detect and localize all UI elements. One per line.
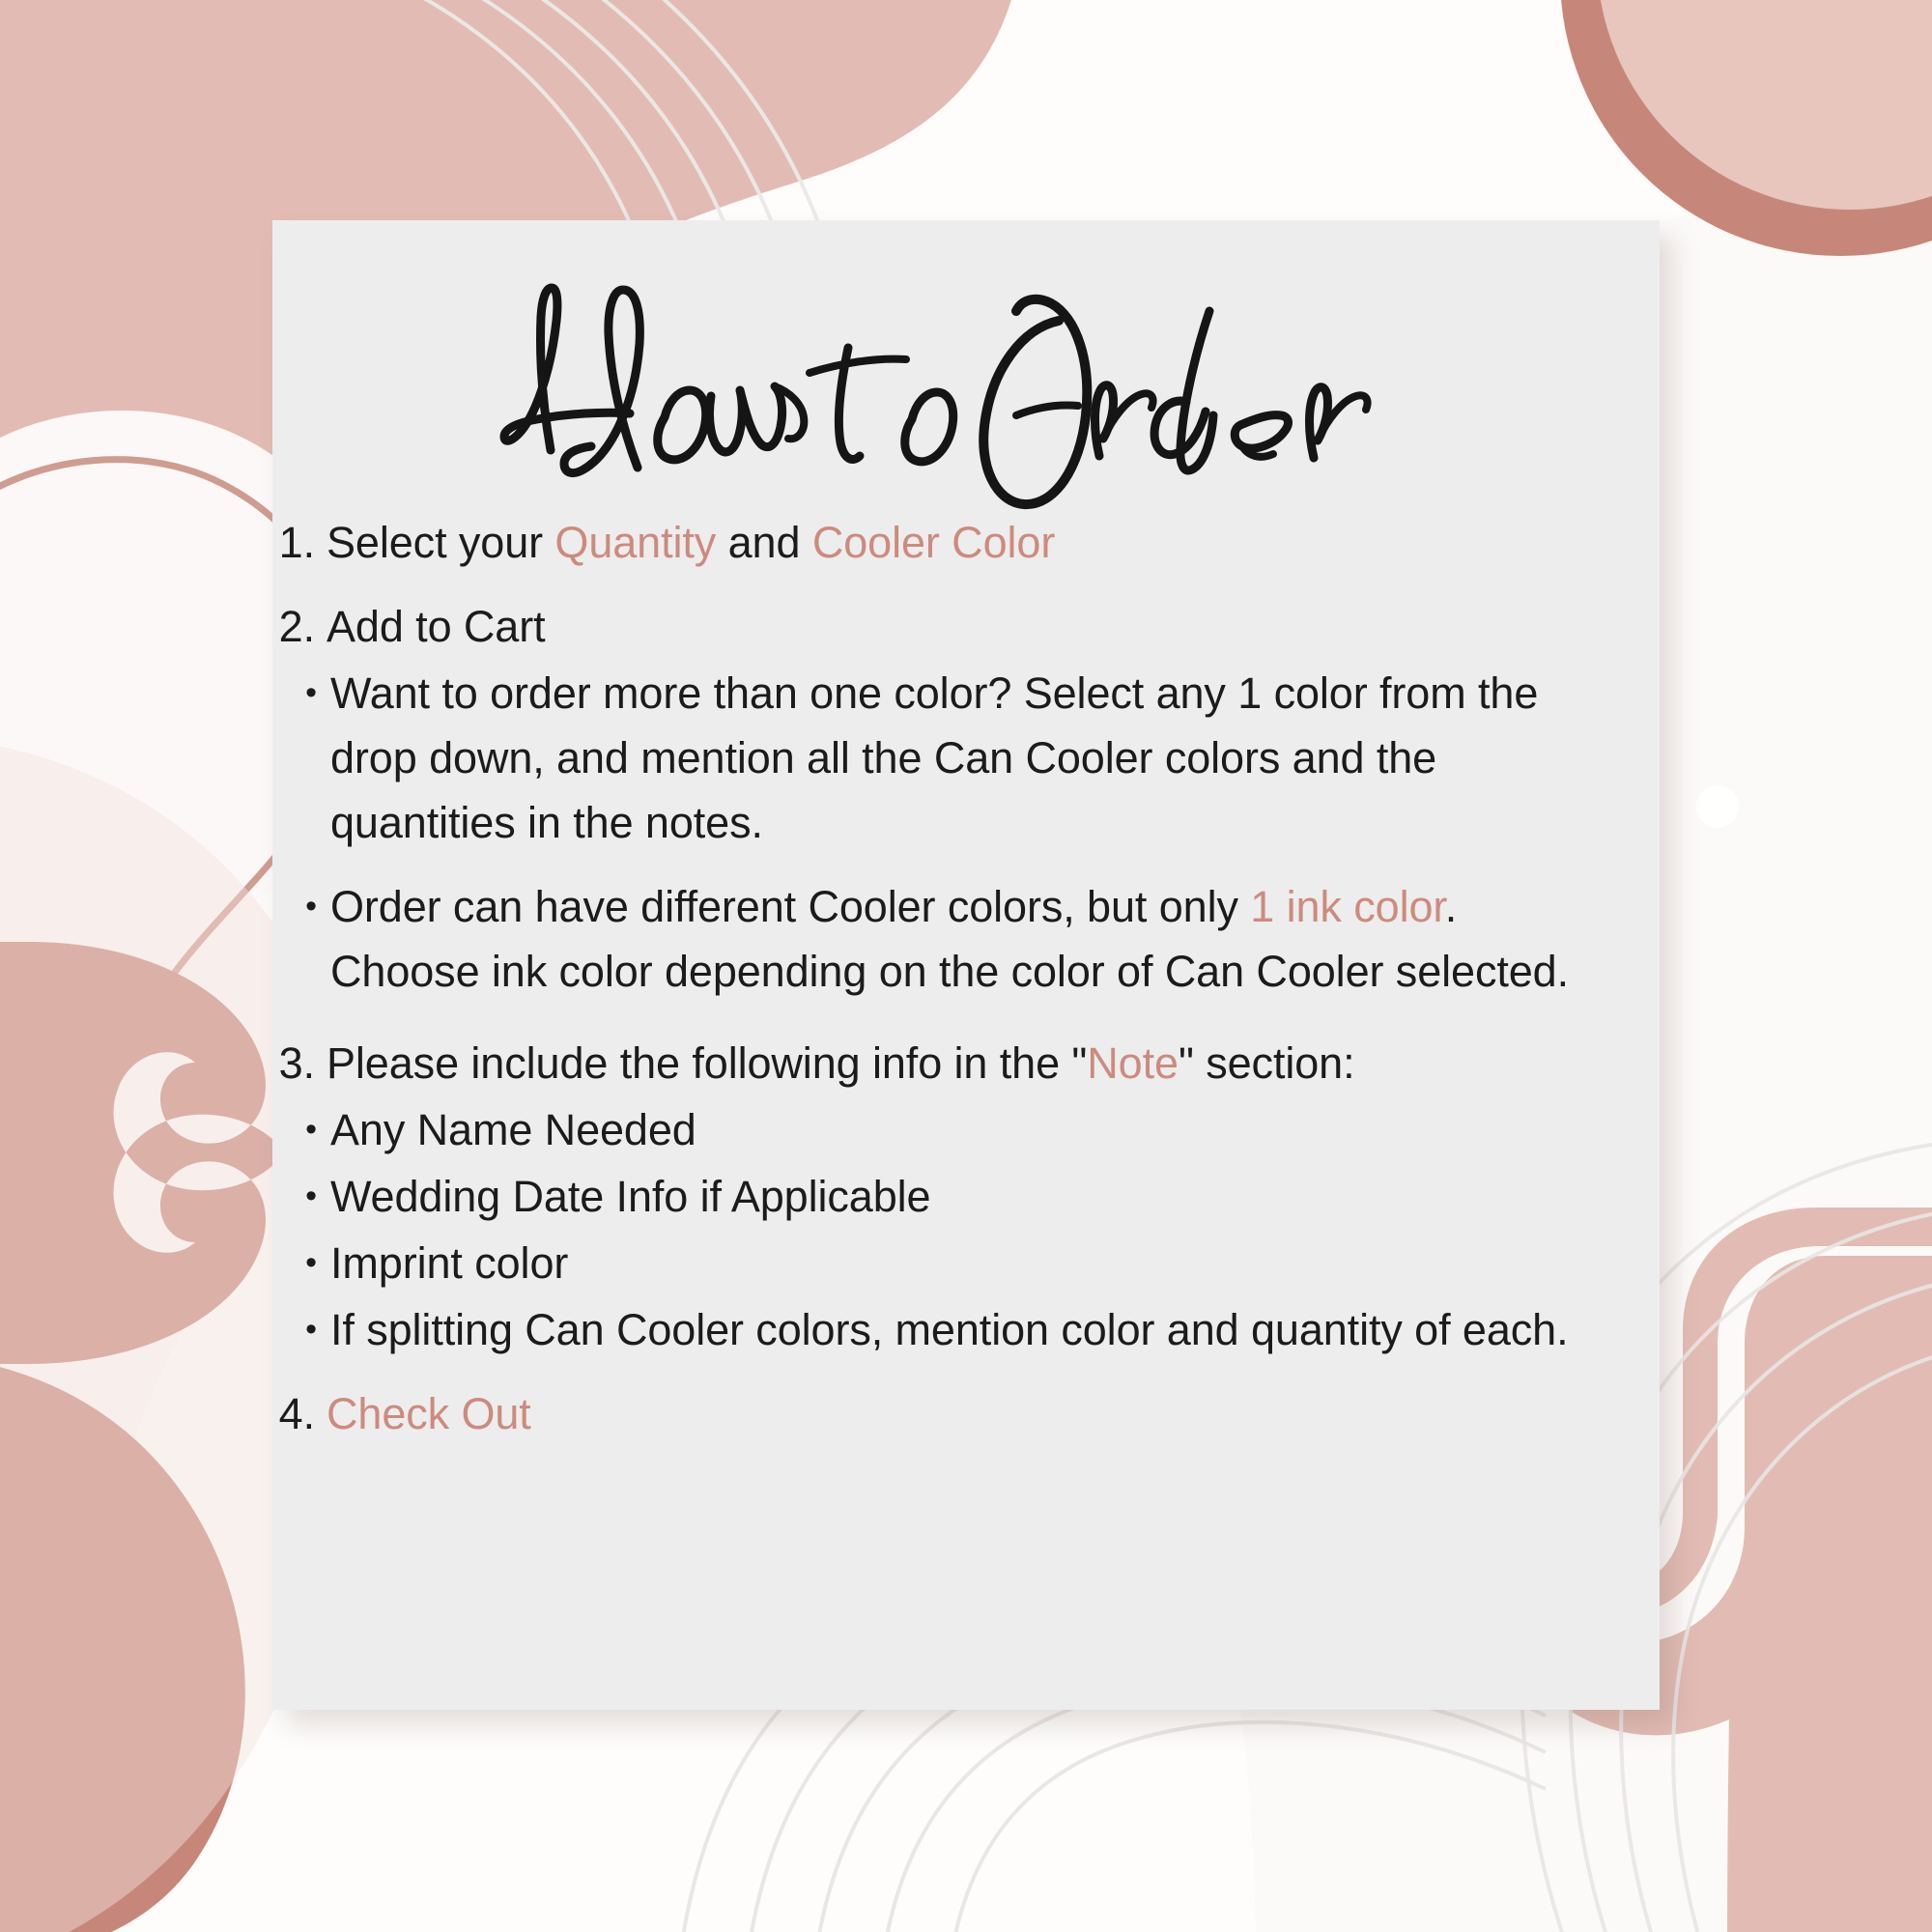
list-item-bullet-wedding-date: • Wedding Date Info if Applicable	[272, 1164, 1577, 1229]
segment: Select your	[327, 518, 554, 567]
list-item-bullet-ink-color: • Order can have different Cooler colors…	[272, 874, 1577, 1004]
segment: Any Name Needed	[330, 1105, 696, 1154]
step-number-4: 4.	[272, 1381, 327, 1446]
spacer	[272, 1006, 1577, 1031]
bullet-text-imprint-color: Imprint color	[330, 1231, 1577, 1295]
segment-accent-cooler-color: Cooler Color	[812, 518, 1055, 567]
step-number-2: 2.	[272, 594, 327, 659]
list-item-bullet-imprint-color: • Imprint color	[272, 1231, 1577, 1295]
list-item-step-2: 2. Add to Cart	[272, 594, 1577, 659]
list-item-bullet-any-name: • Any Name Needed	[272, 1097, 1577, 1162]
spacer	[272, 1364, 1577, 1381]
bullet-dot-icon: •	[286, 874, 330, 1004]
segment-accent-note: Note	[1087, 1038, 1179, 1088]
bullet-dot-icon: •	[286, 1297, 330, 1362]
bullet-text-any-name: Any Name Needed	[330, 1097, 1577, 1162]
segment: If splitting Can Cooler colors, mention …	[330, 1305, 1569, 1354]
list-item-step-4: 4. Check Out	[272, 1381, 1577, 1446]
bg-dot-right	[1696, 785, 1739, 828]
bullet-dot-icon: •	[286, 1164, 330, 1229]
title-script-art: How to Order	[475, 261, 1461, 473]
step-number-1: 1.	[272, 510, 327, 575]
bullet-text-splitting-colors: If splitting Can Cooler colors, mention …	[330, 1297, 1577, 1362]
segment: Want to order more than one color? Selec…	[330, 668, 1550, 847]
spacer	[272, 857, 1577, 874]
bullet-text-multi-color: Want to order more than one color? Selec…	[330, 661, 1577, 855]
segment-accent-one-ink-color: 1 ink color	[1250, 882, 1445, 931]
instructions-body: 1. Select your Quantity and Cooler Color…	[272, 510, 1660, 1448]
list-item-step-1: 1. Select your Quantity and Cooler Color	[272, 510, 1577, 575]
list-item-bullet-multi-color: • Want to order more than one color? Sel…	[272, 661, 1577, 855]
bullet-dot-icon: •	[286, 1231, 330, 1295]
instruction-card: How to Order	[272, 220, 1660, 1710]
poster-canvas: How to Order	[0, 0, 1932, 1932]
bullet-text-ink-color: Order can have different Cooler colors, …	[330, 874, 1577, 1004]
list-item-bullet-splitting-colors: • If splitting Can Cooler colors, mentio…	[272, 1297, 1577, 1362]
segment-accent-quantity: Quantity	[554, 518, 716, 567]
segment: Wedding Date Info if Applicable	[330, 1172, 930, 1221]
step-text-4: Check Out	[327, 1381, 1577, 1446]
segment-accent-check-out: Check Out	[327, 1389, 531, 1438]
segment: Add to Cart	[327, 602, 546, 651]
segment: Imprint color	[330, 1238, 568, 1288]
segment: and	[716, 518, 812, 567]
step-text-3: Please include the following info in the…	[327, 1031, 1577, 1095]
step-text-2: Add to Cart	[327, 594, 1577, 659]
bullet-dot-icon: •	[286, 1097, 330, 1162]
bullet-dot-icon: •	[286, 661, 330, 855]
segment: Please include the following info in the…	[327, 1038, 1087, 1088]
bullet-text-wedding-date: Wedding Date Info if Applicable	[330, 1164, 1577, 1229]
page-title: How to Order	[475, 261, 1461, 473]
spacer	[272, 577, 1577, 594]
segment: " section:	[1179, 1038, 1355, 1088]
step-text-1: Select your Quantity and Cooler Color	[327, 510, 1577, 575]
segment: Order can have different Cooler colors, …	[330, 882, 1250, 931]
step-number-3: 3.	[272, 1031, 327, 1095]
list-item-step-3: 3. Please include the following info in …	[272, 1031, 1577, 1095]
